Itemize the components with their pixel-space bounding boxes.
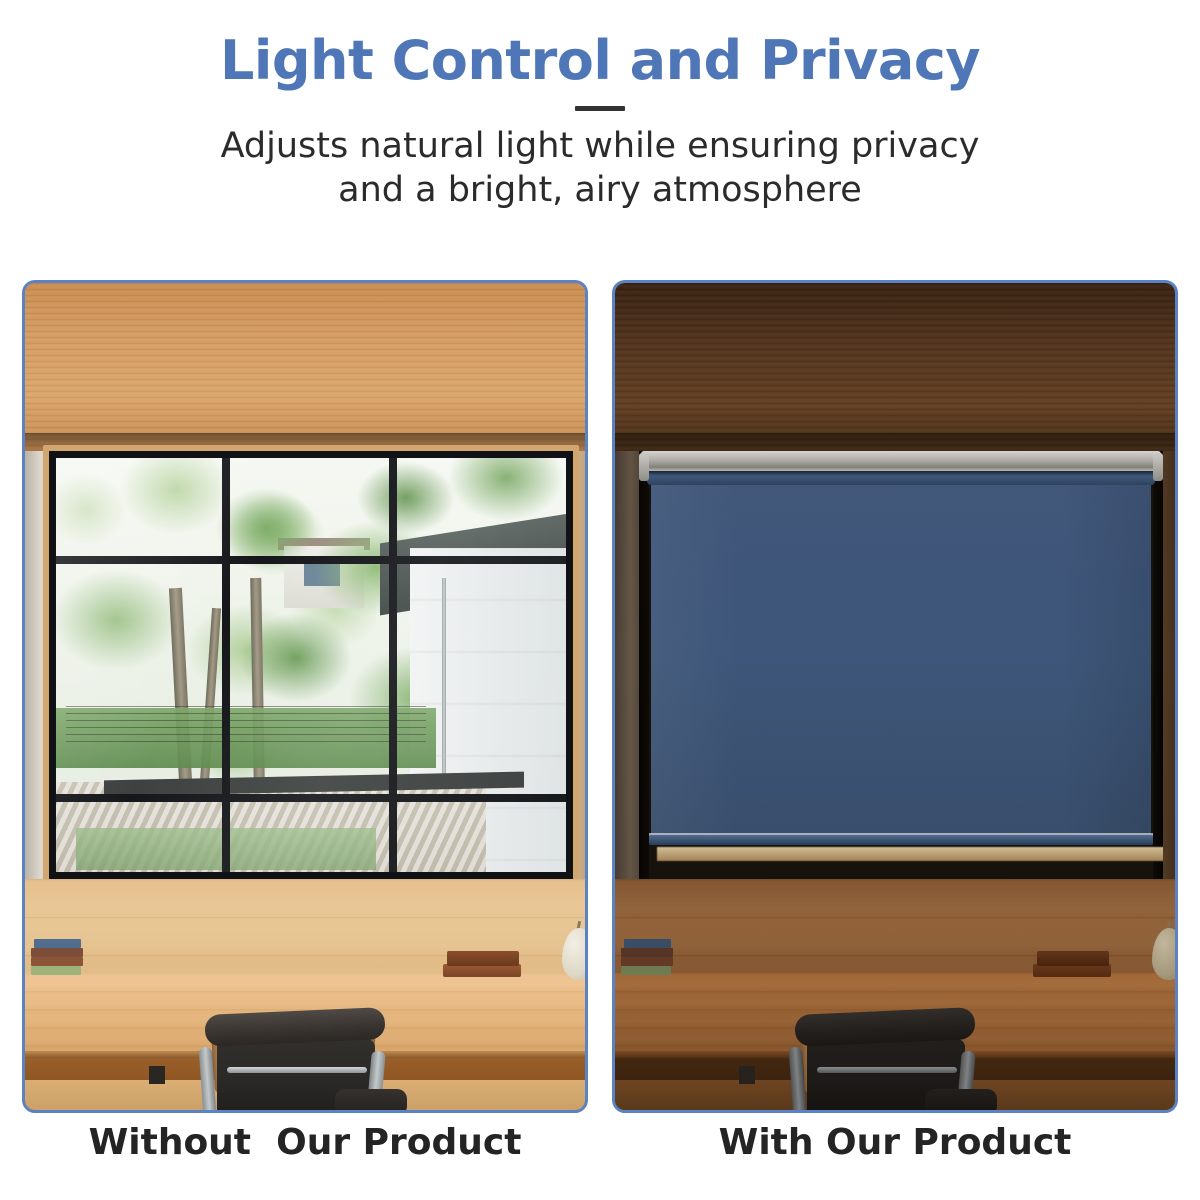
book <box>34 939 81 948</box>
window-mullion-vertical <box>222 458 230 872</box>
book-stack <box>621 939 673 977</box>
panel-without-product <box>22 280 588 1113</box>
page-title: Light Control and Privacy <box>0 30 1200 92</box>
headrail-endcap-left <box>639 453 649 481</box>
panel-captions: Without Our Product With Our Product <box>0 1122 1200 1192</box>
subtitle-line-2: and a bright, airy atmosphere <box>0 169 1200 213</box>
title-divider <box>575 106 625 111</box>
book <box>624 939 671 948</box>
roller-shade-headrail <box>641 451 1161 471</box>
garden-railing <box>66 706 426 746</box>
brown-book <box>1033 951 1111 977</box>
window-mullion-horizontal <box>56 556 566 564</box>
comparison-page: Light Control and Privacy Adjusts natura… <box>0 0 1200 1200</box>
brown-book <box>443 951 521 977</box>
stone-wall-left <box>25 451 51 881</box>
subtitle-line-1: Adjusts natural light while ensuring pri… <box>0 125 1200 169</box>
chair-chrome-bar <box>227 1067 367 1073</box>
book <box>621 966 671 975</box>
book <box>31 948 83 957</box>
caption-without-product: Without Our Product <box>22 1122 588 1163</box>
shade-side-gap-right <box>1153 451 1163 879</box>
floor-outlet <box>149 1066 165 1084</box>
window-mullion-vertical <box>389 458 397 872</box>
book <box>31 966 81 975</box>
caption-with-product: With Our Product <box>612 1122 1178 1163</box>
window-mullion-horizontal <box>56 794 566 802</box>
page-subtitle: Adjusts natural light while ensuring pri… <box>0 125 1200 213</box>
comparison-panels <box>0 280 1200 1115</box>
window-sill-light-leak <box>657 847 1163 861</box>
floor-outlet <box>739 1066 755 1084</box>
chair-chrome-bar <box>817 1067 957 1073</box>
book <box>1037 951 1109 966</box>
book <box>621 957 673 966</box>
book <box>621 948 673 957</box>
office-chair <box>773 1011 997 1113</box>
wood-ceiling <box>615 283 1175 456</box>
title-divider-wrap <box>0 106 1200 111</box>
header: Light Control and Privacy Adjusts natura… <box>0 0 1200 213</box>
shade-side-gap-left <box>639 451 649 879</box>
chair-seat <box>925 1089 997 1113</box>
wood-ceiling <box>25 283 585 456</box>
roller-shade-roll <box>647 470 1155 485</box>
roller-shade-bottom-bar <box>649 835 1153 845</box>
book-stack <box>31 939 83 977</box>
stone-wall-left <box>615 451 641 881</box>
roller-shade-fabric <box>651 484 1151 842</box>
book <box>447 951 519 966</box>
office-chair <box>183 1011 407 1113</box>
roller-shade-assembly <box>639 451 1163 879</box>
book <box>31 957 83 966</box>
window-frame <box>49 451 573 879</box>
outdoor-view <box>56 458 566 872</box>
headrail-endcap-right <box>1153 453 1163 481</box>
scene-with-product <box>615 283 1175 1110</box>
chair-seat <box>335 1089 407 1113</box>
panel-with-product <box>612 280 1178 1113</box>
scene-without-product <box>25 283 585 1110</box>
